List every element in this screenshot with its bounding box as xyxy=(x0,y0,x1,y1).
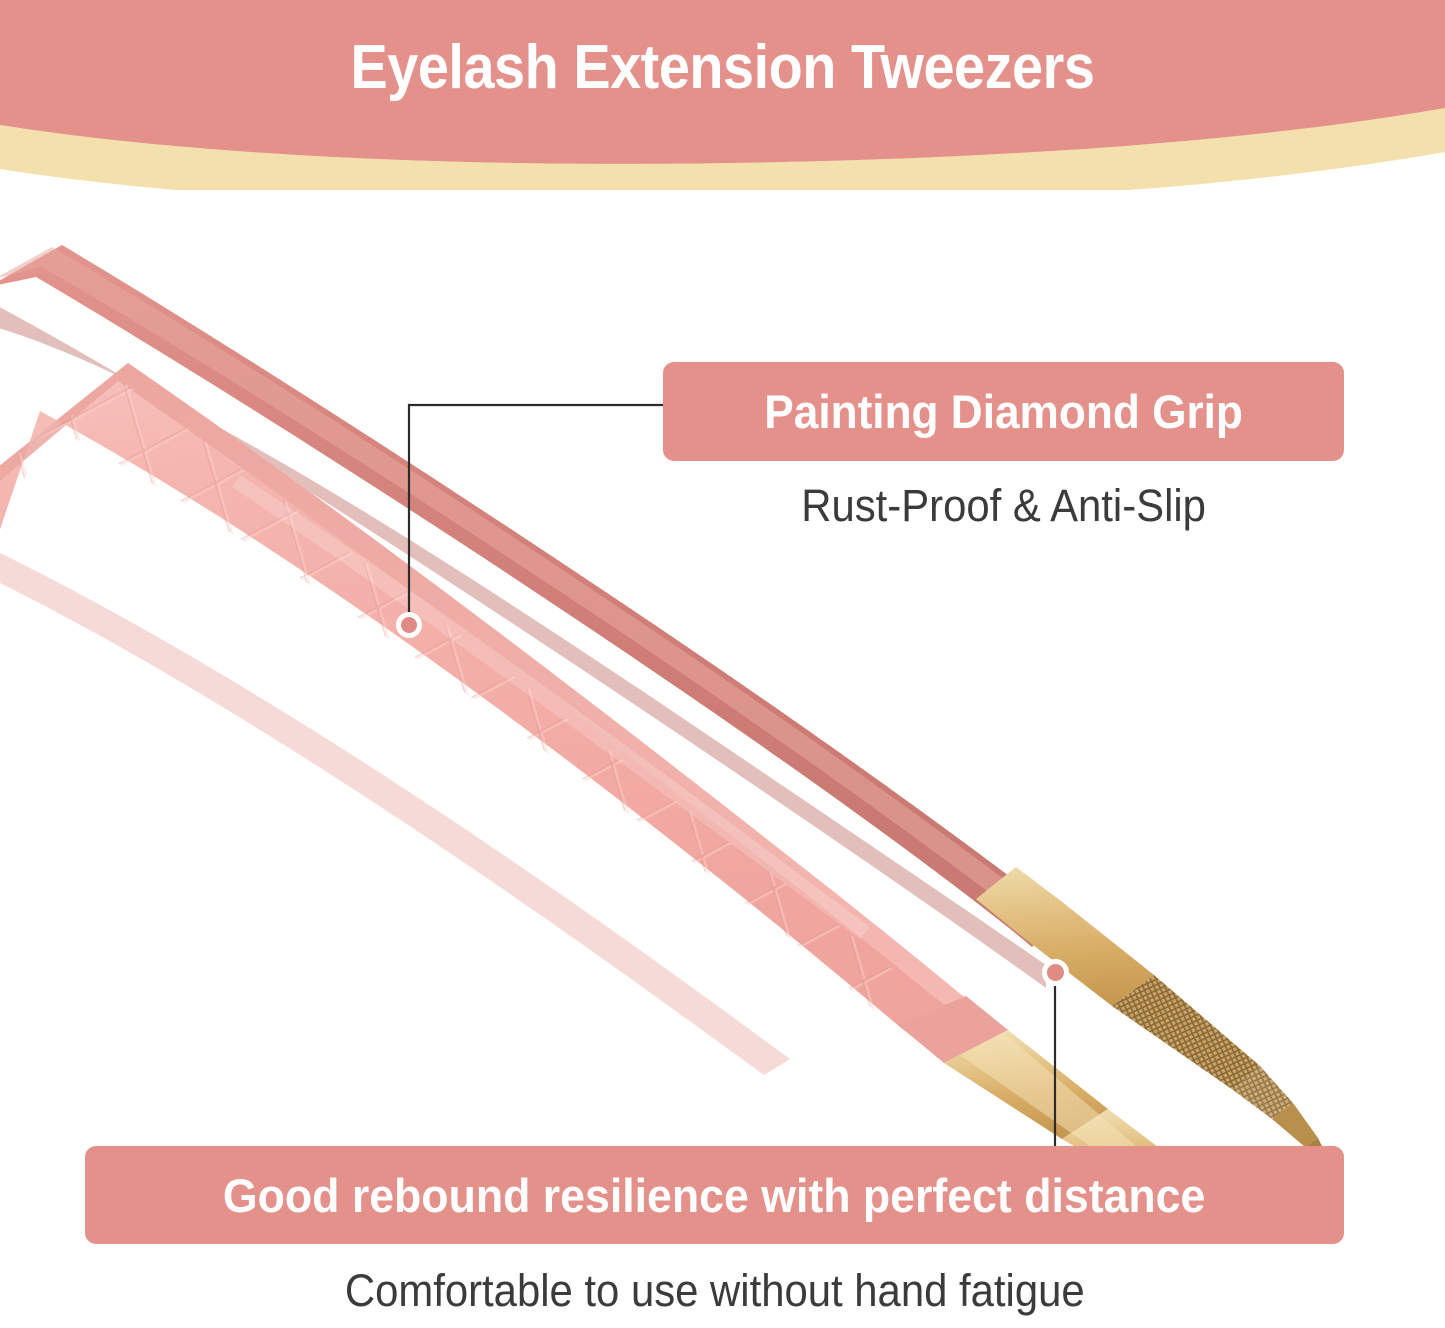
page-title: Eyelash Extension Tweezers xyxy=(72,34,1373,102)
caption-rebound: Comfortable to use without hand fatigue xyxy=(85,1265,1344,1317)
tweezer-far-gold-tip xyxy=(976,867,1336,1175)
callout-grip-label: Painting Diamond Grip xyxy=(764,384,1243,439)
caption-rebound-text: Comfortable to use without hand fatigue xyxy=(345,1265,1085,1317)
header-banner: Eyelash Extension Tweezers xyxy=(0,0,1445,190)
marker-tip-point xyxy=(1042,959,1069,986)
caption-grip: Rust-Proof & Anti-Slip xyxy=(663,480,1344,532)
product-image xyxy=(0,175,1445,1175)
callout-rebound: Good rebound resilience with perfect dis… xyxy=(85,1146,1344,1244)
callout-rebound-label: Good rebound resilience with perfect dis… xyxy=(223,1168,1206,1223)
callout-grip: Painting Diamond Grip xyxy=(663,362,1344,461)
caption-grip-text: Rust-Proof & Anti-Slip xyxy=(801,480,1206,532)
product-infographic: Eyelash Extension Tweezers xyxy=(0,0,1445,1328)
marker-grip-point xyxy=(396,612,422,638)
